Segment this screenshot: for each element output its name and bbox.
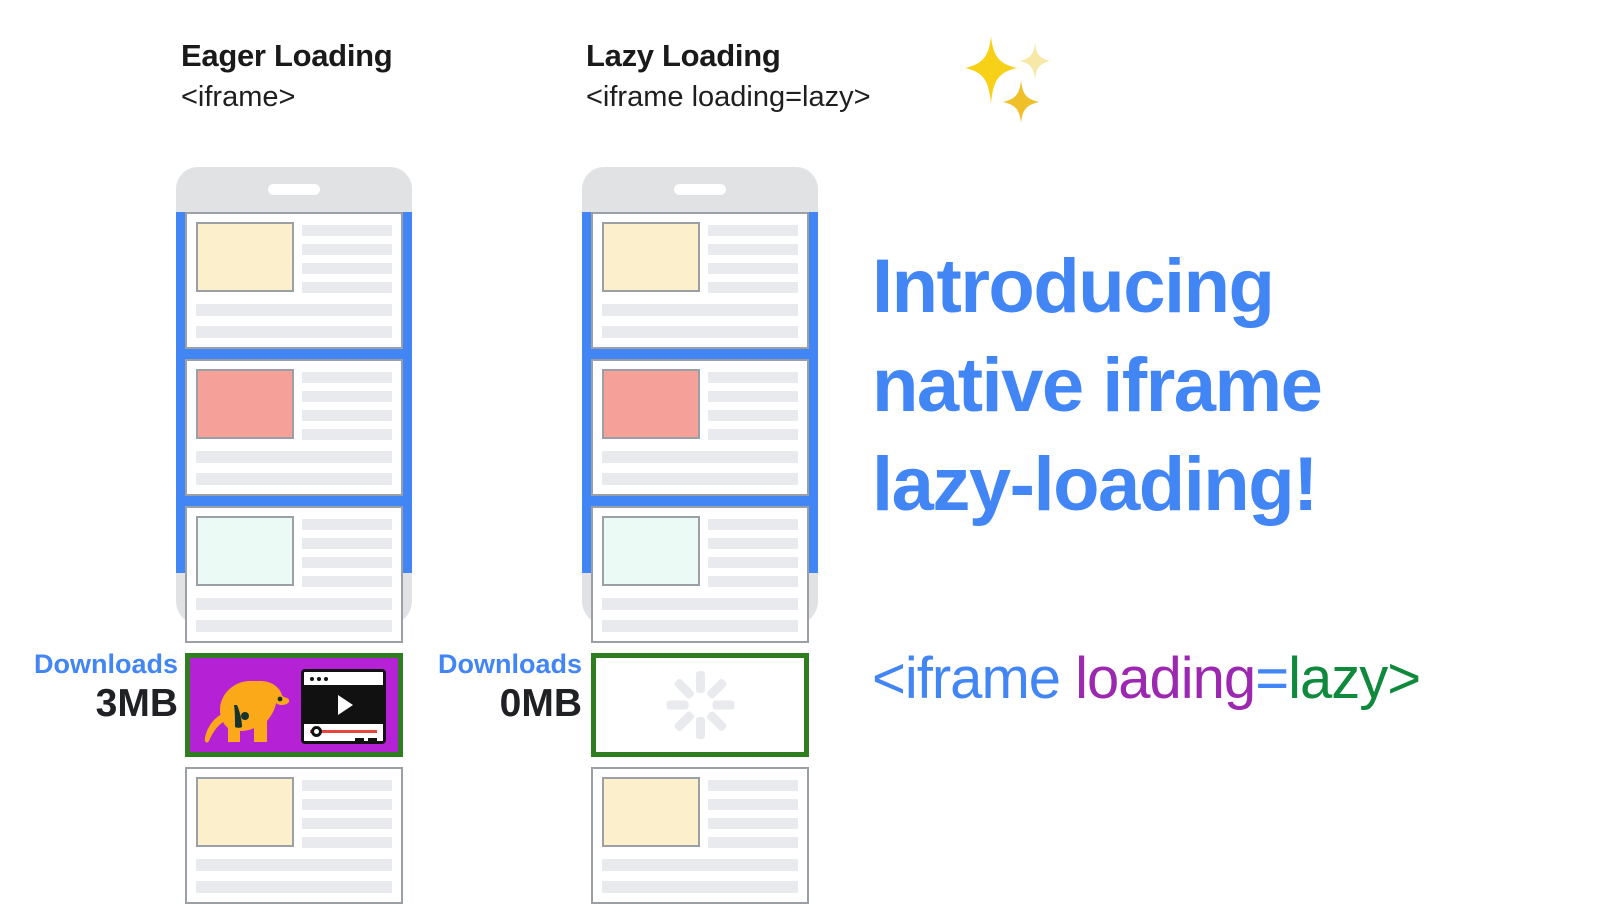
text-placeholder-line xyxy=(302,519,392,530)
downloads-label: Downloads xyxy=(0,650,178,680)
downloads-label: Downloads xyxy=(404,650,582,680)
text-placeholder-line xyxy=(302,244,392,255)
text-placeholder-line xyxy=(708,519,798,530)
text-placeholder-line xyxy=(602,620,798,632)
card-thumbnail xyxy=(196,777,294,847)
column-title-lazy: Lazy Loading xyxy=(586,38,871,74)
feed-card[interactable] xyxy=(591,359,809,496)
column-subtitle-lazy: <iframe loading=lazy> xyxy=(586,81,871,114)
text-placeholder-line xyxy=(302,282,392,293)
column-heading-eager: Eager Loading <iframe> xyxy=(181,38,392,114)
progress-scrubber[interactable] xyxy=(311,726,322,737)
text-placeholder-line xyxy=(708,263,798,274)
text-placeholder-line xyxy=(302,837,392,848)
column-subtitle-eager: <iframe> xyxy=(181,81,392,114)
card-thumbnail xyxy=(602,369,700,439)
text-placeholder-line xyxy=(302,780,392,791)
code-attribute: loading xyxy=(1060,646,1255,711)
text-placeholder-line xyxy=(602,451,798,463)
text-placeholder-line xyxy=(302,391,392,402)
text-placeholder-line xyxy=(196,620,392,632)
iframe-embed-placeholder[interactable] xyxy=(591,653,809,757)
downloads-summary-lazy: Downloads 0MB xyxy=(404,650,582,727)
feed-card[interactable] xyxy=(591,506,809,643)
text-placeholder-line xyxy=(196,326,392,338)
text-placeholder-line xyxy=(302,263,392,274)
window-dot-icon xyxy=(310,677,314,681)
headline-line-1: Introducing xyxy=(872,238,1512,337)
code-tag: <iframe xyxy=(872,646,1060,711)
player-controls xyxy=(304,722,383,744)
card-thumbnail xyxy=(602,516,700,586)
feed-card[interactable] xyxy=(185,506,403,643)
text-placeholder-line xyxy=(196,451,392,463)
text-placeholder-line xyxy=(708,391,798,402)
text-placeholder-line xyxy=(708,372,798,383)
text-placeholder-line xyxy=(708,429,798,440)
text-placeholder-line xyxy=(302,818,392,829)
dog-illustration-icon xyxy=(204,672,290,748)
window-dot-icon xyxy=(317,677,321,681)
text-placeholder-line xyxy=(196,859,392,871)
iframe-embed-loaded[interactable] xyxy=(185,653,403,757)
column-heading-lazy: Lazy Loading <iframe loading=lazy> xyxy=(586,38,871,114)
text-placeholder-line xyxy=(602,881,798,893)
text-placeholder-line xyxy=(708,557,798,568)
text-placeholder-line xyxy=(708,538,798,549)
feed-card[interactable] xyxy=(591,212,809,349)
code-equals: = xyxy=(1255,646,1288,711)
text-placeholder-line xyxy=(196,473,392,485)
play-button-icon[interactable] xyxy=(338,695,353,715)
text-placeholder-line xyxy=(602,598,798,610)
headline-line-2: native iframe xyxy=(872,337,1512,436)
text-placeholder-line xyxy=(602,304,798,316)
column-title-eager: Eager Loading xyxy=(181,38,392,74)
text-placeholder-line xyxy=(302,225,392,236)
infographic-canvas: Eager Loading <iframe> Lazy Loading <ifr… xyxy=(0,0,1600,919)
downloads-summary-eager: Downloads 3MB xyxy=(0,650,178,727)
text-placeholder-line xyxy=(302,557,392,568)
text-placeholder-line xyxy=(602,859,798,871)
card-thumbnail xyxy=(602,777,700,847)
feed-card[interactable] xyxy=(185,212,403,349)
text-placeholder-line xyxy=(302,372,392,383)
feed-eager xyxy=(176,167,412,914)
card-thumbnail xyxy=(196,369,294,439)
text-placeholder-line xyxy=(708,799,798,810)
window-dot-icon xyxy=(324,677,328,681)
card-thumbnail xyxy=(196,222,294,292)
text-placeholder-line xyxy=(302,429,392,440)
text-placeholder-line xyxy=(302,538,392,549)
text-placeholder-line xyxy=(708,225,798,236)
headline: Introducing native iframe lazy-loading! xyxy=(872,238,1512,534)
text-placeholder-line xyxy=(708,780,798,791)
text-placeholder-line xyxy=(708,837,798,848)
text-placeholder-line xyxy=(602,326,798,338)
text-placeholder-line xyxy=(708,410,798,421)
text-placeholder-line xyxy=(302,576,392,587)
feed-lazy xyxy=(582,167,818,914)
text-placeholder-line xyxy=(602,473,798,485)
text-placeholder-line xyxy=(196,304,392,316)
text-placeholder-line xyxy=(708,244,798,255)
player-title-bar xyxy=(304,672,383,687)
text-placeholder-line xyxy=(302,799,392,810)
text-placeholder-line xyxy=(708,576,798,587)
code-value: lazy> xyxy=(1288,646,1420,711)
feed-card[interactable] xyxy=(185,359,403,496)
sparkles-emoji-icon xyxy=(955,28,1065,124)
feed-card[interactable] xyxy=(591,767,809,904)
text-placeholder-line xyxy=(302,410,392,421)
headline-line-3: lazy-loading! xyxy=(872,436,1512,535)
code-snippet: <iframe loading=lazy> xyxy=(872,645,1420,712)
video-player-illustration xyxy=(301,669,386,744)
downloads-value: 3MB xyxy=(0,682,178,727)
player-screen xyxy=(304,687,383,722)
downloads-value: 0MB xyxy=(404,682,582,727)
control-dash-icon xyxy=(355,738,364,741)
card-thumbnail xyxy=(602,222,700,292)
control-dash-icon xyxy=(368,738,377,741)
text-placeholder-line xyxy=(708,818,798,829)
text-placeholder-line xyxy=(708,282,798,293)
text-placeholder-line xyxy=(196,598,392,610)
card-thumbnail xyxy=(196,516,294,586)
text-placeholder-line xyxy=(196,881,392,893)
feed-card[interactable] xyxy=(185,767,403,904)
